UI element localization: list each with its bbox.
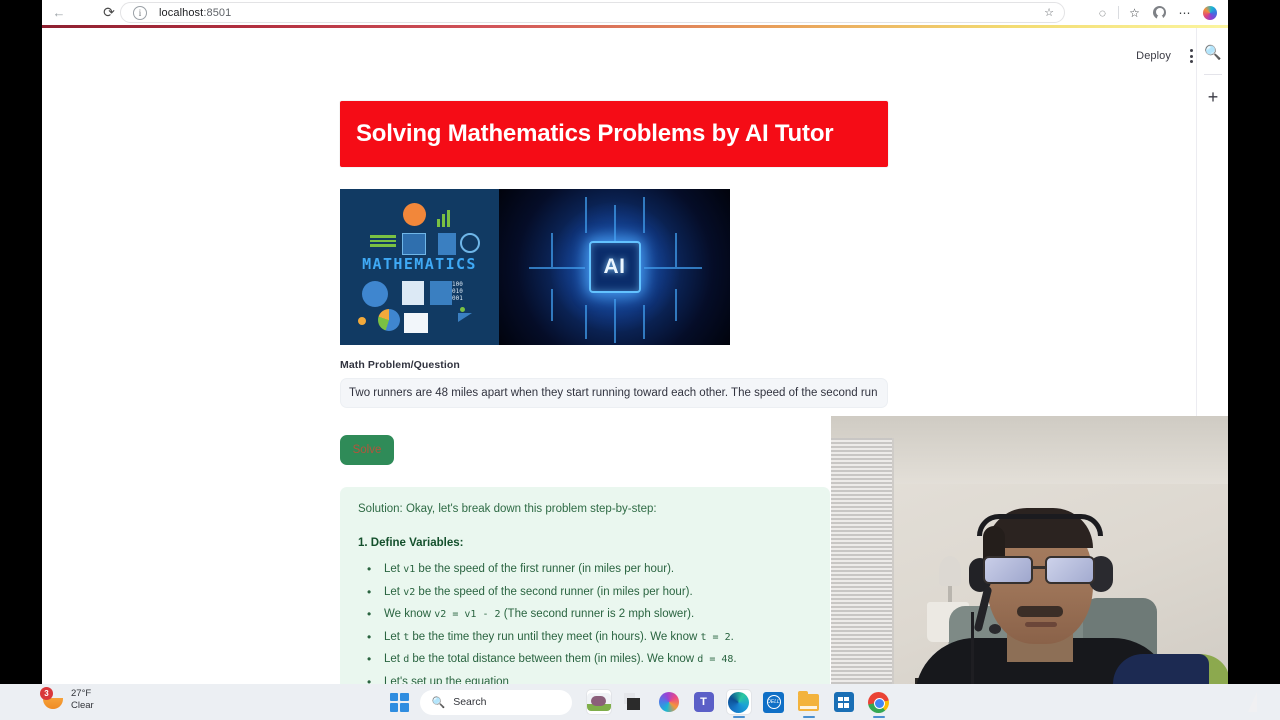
bullet-code: v2 bbox=[403, 587, 415, 598]
plus-icon[interactable]: + bbox=[1197, 79, 1229, 115]
info-icon[interactable]: i bbox=[133, 6, 147, 20]
math-problem-label: Math Problem/Question bbox=[340, 359, 890, 371]
solution-clipped-line: Let's set up the equation bbox=[358, 676, 812, 684]
solution-heading: 1. Define Variables: bbox=[358, 537, 812, 549]
taskbar-app-file-explorer[interactable] bbox=[797, 690, 821, 714]
bullet-post: be the speed of the second runner (in mi… bbox=[415, 586, 692, 598]
list-item: Let v2 be the speed of the second runner… bbox=[358, 586, 812, 598]
split-screen-icon[interactable]: ◌ bbox=[1090, 1, 1115, 24]
teams-icon: T bbox=[694, 692, 714, 712]
bullet-code-2: d = 48 bbox=[697, 654, 733, 665]
page-title-banner: Solving Mathematics Problems by AI Tutor bbox=[340, 101, 888, 167]
bullet-post: be the total distance between them (in m… bbox=[409, 653, 697, 665]
app-content: Solving Mathematics Problems by AI Tutor… bbox=[340, 101, 890, 690]
screen: ← ⟳ i localhost:8501 ☆ ◌ ☆ ⋯ Deploy bbox=[0, 0, 1280, 720]
taskbar-center: 🔍 Search T DELL bbox=[0, 684, 1280, 720]
copilot-icon bbox=[659, 692, 679, 712]
store-icon bbox=[834, 692, 854, 712]
hippo-icon bbox=[587, 693, 611, 711]
avatar-icon[interactable] bbox=[1147, 1, 1172, 24]
browser-toolbar: ← ⟳ i localhost:8501 ☆ ◌ ☆ ⋯ bbox=[42, 0, 1228, 25]
binary-digits: 100010001 bbox=[452, 281, 476, 302]
solution-lead: Solution: Okay, let's break down this pr… bbox=[358, 503, 812, 515]
solution-panel: Solution: Okay, let's break down this pr… bbox=[340, 487, 830, 690]
window-blinds bbox=[831, 438, 894, 720]
bullet-post: be the time they run until they meet (in… bbox=[409, 631, 700, 643]
deco-dot-orange bbox=[358, 317, 366, 325]
bullet-pre: Let bbox=[384, 586, 403, 598]
taskbar-app-task-view[interactable] bbox=[622, 690, 646, 714]
deploy-button[interactable]: Deploy bbox=[1136, 50, 1171, 62]
taskbar-app-copilot[interactable] bbox=[657, 690, 681, 714]
taskbar-app-hippo-wallpaper[interactable] bbox=[587, 690, 611, 714]
list-item: Let v1 be the speed of the first runner … bbox=[358, 563, 812, 575]
edge-icon bbox=[728, 692, 749, 713]
grid-icon bbox=[430, 281, 452, 305]
headphones bbox=[977, 514, 1103, 536]
solution-bullet-list: Let v1 be the speed of the first runner … bbox=[358, 563, 812, 665]
deco-circle-blue bbox=[362, 281, 388, 307]
search-label: Search bbox=[453, 696, 486, 708]
windows-start-icon[interactable] bbox=[390, 693, 409, 712]
address-bar[interactable]: i localhost:8501 ☆ bbox=[120, 2, 1065, 23]
page-title: Solving Mathematics Problems by AI Tutor bbox=[340, 122, 833, 146]
taskbar-app-edge[interactable] bbox=[727, 690, 751, 714]
checklist-icon bbox=[404, 313, 428, 333]
star-icon[interactable]: ☆ bbox=[1044, 6, 1054, 19]
solve-button-label: Solve bbox=[353, 444, 382, 456]
url-host: localhost bbox=[159, 7, 203, 19]
chrome-icon bbox=[868, 692, 889, 713]
document-icon bbox=[402, 281, 424, 305]
ai-chip: AI bbox=[589, 241, 641, 293]
list-lines-icon bbox=[370, 235, 396, 251]
toolbar-right-actions: ◌ ☆ ⋯ bbox=[1090, 1, 1222, 24]
bar-chart-icon bbox=[437, 209, 457, 227]
taskbar-app-chrome[interactable] bbox=[867, 690, 891, 714]
ai-label: AI bbox=[604, 255, 626, 279]
book-icon bbox=[438, 233, 456, 255]
url-text: localhost:8501 bbox=[159, 7, 231, 19]
bullet-code: v1 bbox=[403, 564, 415, 575]
folder-icon bbox=[798, 694, 819, 711]
bullet-pre: We know bbox=[384, 608, 434, 620]
taskbar-app-dell[interactable]: DELL bbox=[762, 690, 786, 714]
mathematics-illustration: MATHEMATICS 100010001 bbox=[340, 189, 499, 345]
reload-icon[interactable]: ⟳ bbox=[96, 2, 122, 24]
webcam-self-view-presenter bbox=[831, 416, 1228, 720]
bullet-post-2: . bbox=[733, 653, 736, 665]
taskbar-app-teams[interactable]: T bbox=[692, 690, 716, 714]
back-arrow-icon[interactable]: ← bbox=[46, 2, 72, 24]
pen-icon[interactable] bbox=[1244, 690, 1266, 714]
mathematics-word: MATHEMATICS bbox=[348, 255, 491, 273]
magnifier-icon bbox=[460, 233, 480, 253]
bullet-post: be the speed of the first runner (in mil… bbox=[415, 563, 674, 575]
taskbar-app-store[interactable] bbox=[832, 690, 856, 714]
eyeglasses bbox=[983, 556, 1099, 584]
deco-dot-green bbox=[460, 307, 465, 312]
rail-divider bbox=[1204, 74, 1222, 75]
ai-chip-illustration: AI bbox=[499, 189, 730, 345]
bullet-pre: Let bbox=[384, 653, 403, 665]
bullet-post: (The second runner is 2 mph slower). bbox=[501, 608, 695, 620]
bullet-post-2: . bbox=[731, 631, 734, 643]
task-view-icon bbox=[624, 693, 644, 711]
collections-icon[interactable]: ☆ bbox=[1122, 1, 1147, 24]
pie-chart-icon bbox=[378, 309, 400, 331]
ruler-icon bbox=[458, 313, 472, 322]
windows-taskbar: 3 27°F Clear 🔍 Search T DELL bbox=[0, 684, 1280, 720]
bullet-pre: Let bbox=[384, 631, 403, 643]
bullet-code-2: t = 2 bbox=[700, 632, 730, 643]
math-problem-input[interactable]: Two runners are 48 miles apart when they… bbox=[340, 378, 888, 408]
letterbox-right bbox=[1228, 0, 1280, 684]
dell-icon: DELL bbox=[763, 692, 784, 713]
list-item: We know v2 = v1 - 2 (The second runner i… bbox=[358, 608, 812, 620]
solve-button[interactable]: Solve bbox=[340, 435, 394, 465]
search-icon: 🔍 bbox=[432, 696, 446, 709]
toolbar-divider bbox=[1118, 6, 1119, 19]
list-item: Let d be the total distance between them… bbox=[358, 653, 812, 665]
copilot-icon[interactable] bbox=[1197, 1, 1222, 24]
taskbar-search[interactable]: 🔍 Search bbox=[420, 690, 572, 715]
letterbox-left bbox=[0, 0, 42, 684]
math-problem-value: Two runners are 48 miles apart when they… bbox=[341, 387, 877, 399]
bullet-code: v2 = v1 - 2 bbox=[434, 609, 500, 620]
url-port: :8501 bbox=[203, 7, 231, 19]
more-options-icon[interactable]: ⋯ bbox=[1172, 1, 1197, 24]
deco-circle-orange bbox=[403, 203, 426, 226]
calculator-icon bbox=[402, 233, 426, 255]
search-icon[interactable]: 🔍 bbox=[1197, 34, 1229, 70]
taskbar-app-icons: T DELL bbox=[587, 690, 891, 714]
list-item: Let t be the time they run until they me… bbox=[358, 631, 812, 643]
bullet-pre: Let bbox=[384, 563, 403, 575]
hero-images: MATHEMATICS 100010001 bbox=[340, 189, 730, 345]
